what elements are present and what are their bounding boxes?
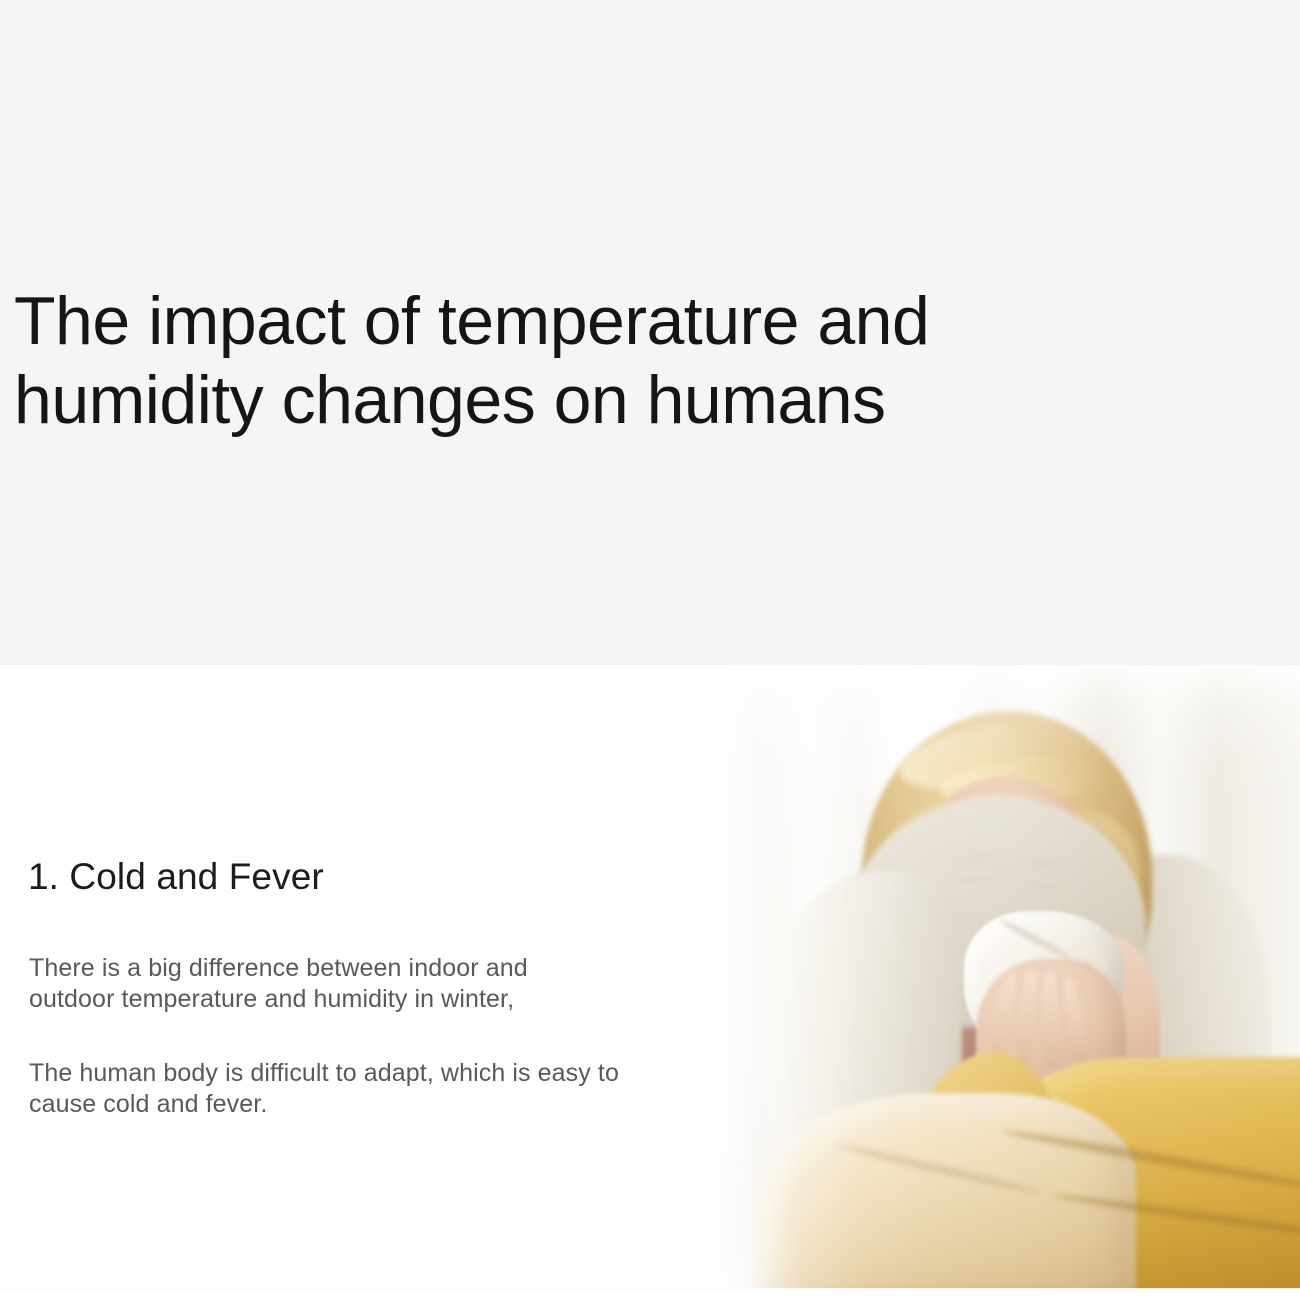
content-panel: 1. Cold and Fever There is a big differe… xyxy=(0,665,1300,1300)
bottom-strip xyxy=(0,1288,1300,1300)
woman-figure xyxy=(750,685,1270,1288)
section-heading: 1. Cold and Fever xyxy=(28,855,324,899)
title-panel: The impact of temperature and humidity c… xyxy=(0,0,1300,665)
text-block: 1. Cold and Fever There is a big differe… xyxy=(0,665,700,1300)
sick-woman-photo xyxy=(600,665,1300,1288)
photo-canvas xyxy=(600,665,1300,1288)
presentation-slide: The impact of temperature and humidity c… xyxy=(0,0,1300,1300)
page-title: The impact of temperature and humidity c… xyxy=(14,282,1044,440)
pillow-cream xyxy=(756,1093,1136,1288)
body-paragraph-2: The human body is difficult to adapt, wh… xyxy=(29,1058,669,1120)
body-paragraph-1: There is a big difference between indoor… xyxy=(29,953,609,1015)
